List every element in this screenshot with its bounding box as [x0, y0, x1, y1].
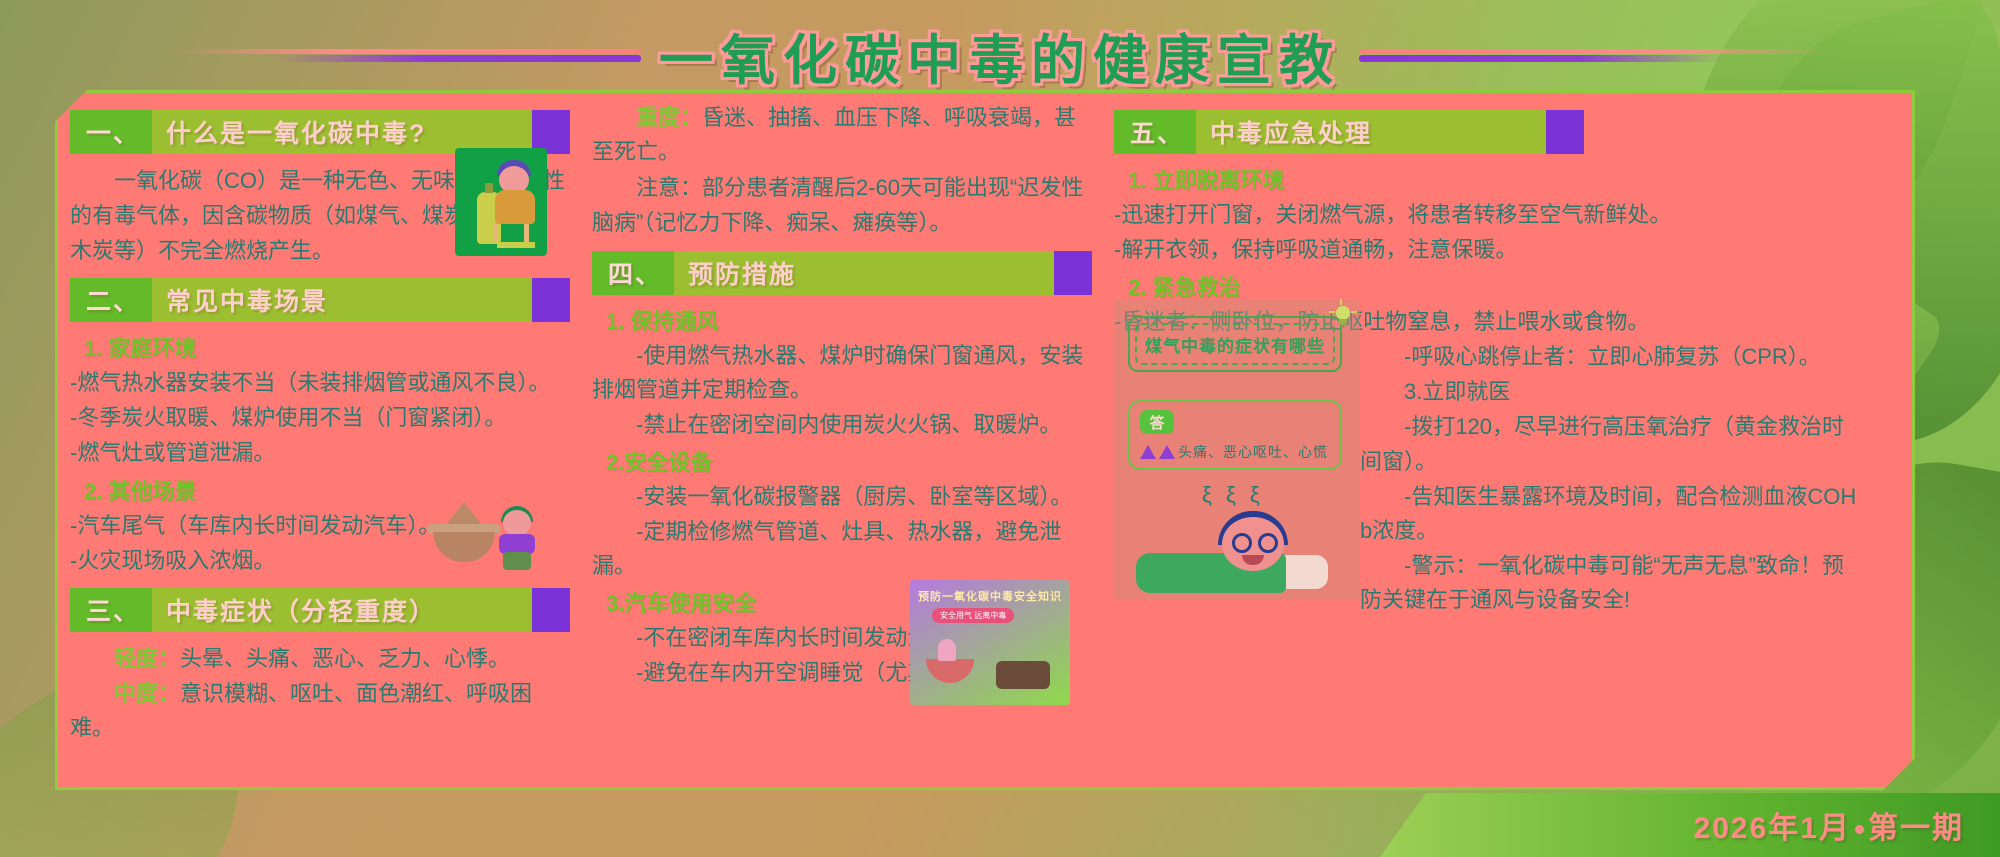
section-title-5: 中毒应急处理 — [1196, 110, 1546, 154]
section3-severe-label: 重度： — [636, 105, 702, 130]
section5-sub3-item: -警示：一氧化碳中毒可能“无声无息”致命！预防关键在于通风与设备安全! — [1360, 549, 1860, 617]
section4-sub1-item: -禁止在密闭空间内使用炭火火锅、取暖炉。 — [592, 408, 1092, 442]
section2-sub1-heading: 1. 家庭环境 — [84, 332, 570, 365]
section-header-2: 二、 常见中毒场景 — [70, 278, 570, 322]
qa-card: 煤气中毒的症状有哪些 答 头痛、恶心呕吐、心慌 ξ ξ ξ — [1114, 300, 1360, 600]
section-cap-3 — [532, 588, 570, 632]
section-header-4: 四、 预防措施 — [592, 251, 1092, 295]
bbq-safety-poster-illustration-icon: 预防一氧化碳中毒安全知识 安全用气 远离中毒 — [910, 580, 1070, 705]
section2-sub1-item: -冬季炭火取暖、煤炉使用不当（门窗紧闭）。 — [70, 401, 570, 435]
section5-sub1-item: -解开衣领，保持呼吸道通畅，注意保暖。 — [1114, 233, 1874, 267]
section5-sub1-item: -迅速打开门窗，关闭燃气源，将患者转移至空气新鲜处。 — [1114, 198, 1874, 232]
column-right: 五、 中毒应急处理 1. 立即脱离环境 -迅速打开门窗，关闭燃气源，将患者转移至… — [1114, 100, 1874, 790]
section3-mild-text: 头晕、头痛、恶心、乏力、心悸。 — [180, 646, 510, 671]
section4-sub2-item: -定期检修燃气管道、灶具、热水器，避免泄漏。 — [592, 515, 1092, 583]
section-title-2: 常见中毒场景 — [152, 278, 532, 322]
bbq-poster-title: 预防一氧化碳中毒安全知识 — [910, 588, 1070, 604]
qa-answer-box: 答 头痛、恶心呕吐、心慌 — [1128, 400, 1342, 470]
footer-issue: 第一期 — [1868, 812, 1964, 845]
section2-sub1-item: -燃气热水器安装不当（未装排烟管或通风不良）。 — [70, 366, 570, 400]
qa-question-box: 煤气中毒的症状有哪些 — [1128, 316, 1342, 372]
section5-sub1-heading: 1. 立即脱离环境 — [1128, 164, 1874, 197]
section-cap-2 — [532, 278, 570, 322]
footer-issue-text: 2026年1月第一期 — [1694, 803, 1964, 847]
sleeping-person-illustration-icon — [1136, 505, 1336, 593]
poster-root: 一氧化碳中毒的健康宣教 一、 什么是一氧化碳中毒? 一氧化碳（CO）是一种无色、… — [0, 0, 2000, 857]
charcoal-hotpot-illustration-icon — [425, 488, 543, 578]
footer-date: 2026年1月 — [1694, 812, 1851, 845]
section4-sub2-heading: 2.安全设备 — [606, 446, 1092, 479]
section-number-5: 五、 — [1114, 110, 1196, 154]
footer-banner: 2026年1月第一期 — [1380, 793, 2000, 857]
section3-moderate-label: 中度： — [114, 681, 180, 706]
section3-severe-line: 重度：昏迷、抽搐、血压下降、呼吸衰竭，甚至死亡。 — [592, 101, 1092, 169]
section5-sub2-item: -呼吸心跳停止者：立即心肺复苏（CPR）。 — [1360, 340, 1860, 374]
section-header-5: 五、 中毒应急处理 — [1114, 110, 1584, 154]
page-title: 一氧化碳中毒的健康宣教 — [641, 16, 1359, 95]
section3-mild-line: 轻度：头晕、头痛、恶心、乏力、心悸。 — [70, 642, 570, 676]
section4-sub1-item: -使用燃气热水器、煤炉时确保门窗通风，安装排烟管道并定期检查。 — [592, 339, 1092, 407]
section-header-3: 三、 中毒症状（分轻重度） — [70, 588, 570, 632]
section-number-2: 二、 — [70, 278, 152, 322]
title-rule-left — [171, 49, 641, 61]
section5-sub3-item: -告知医生暴露环境及时间，配合检测血液COHb浓度。 — [1360, 480, 1860, 548]
section-number-3: 三、 — [70, 588, 152, 632]
qa-answer-badge: 答 — [1140, 410, 1174, 434]
section3-note: 注意：部分患者清醒后2-60天可能出现“迟发性脑病”（记忆力下降、痴呆、瘫痪等）… — [592, 171, 1092, 241]
column-middle: 重度：昏迷、抽搐、血压下降、呼吸衰竭，甚至死亡。 注意：部分患者清醒后2-60天… — [592, 100, 1092, 790]
qa-answer-text-row: 头痛、恶心呕吐、心慌 — [1140, 442, 1328, 462]
title-rule-right — [1359, 49, 1829, 61]
lightbulb-icon — [1332, 302, 1354, 328]
column-left: 一、 什么是一氧化碳中毒? 一氧化碳（CO）是一种无色、无味、无刺激性的有毒气体… — [70, 100, 570, 790]
section3-moderate-line: 中度：意识模糊、呕吐、面色潮红、呼吸困难。 — [70, 677, 570, 745]
section-cap-5 — [1546, 110, 1584, 154]
section-title-4: 预防措施 — [674, 251, 1054, 295]
warning-triangle-icon — [1140, 445, 1156, 459]
qa-answer-text: 头痛、恶心呕吐、心慌 — [1178, 444, 1328, 460]
section-cap-4 — [1054, 251, 1092, 295]
section-number-4: 四、 — [592, 251, 674, 295]
oxygen-therapy-illustration-icon — [455, 148, 547, 256]
section2-sub1-item: -燃气灶或管道泄漏。 — [70, 436, 570, 470]
section-title-3: 中毒症状（分轻重度） — [152, 588, 532, 632]
section5-right-block: -呼吸心跳停止者：立即心肺复苏（CPR）。 3.立即就医 -拨打120，尽早进行… — [1360, 340, 1860, 617]
footer-dot-icon — [1855, 825, 1864, 834]
section4-sub2-item: -安装一氧化碳报警器（厨房、卧室等区域）。 — [592, 480, 1092, 514]
section4-sub1-heading: 1. 保持通风 — [606, 305, 1092, 338]
warning-triangle-icon — [1159, 445, 1175, 459]
bbq-poster-subtitle: 安全用气 远离中毒 — [932, 608, 1014, 623]
qa-question-text: 煤气中毒的症状有哪些 — [1145, 332, 1325, 357]
section-number-1: 一、 — [70, 110, 152, 154]
section3-mild-label: 轻度： — [114, 646, 180, 671]
section5-sub3-heading: 3.立即就医 — [1360, 375, 1860, 409]
poster-title-bar: 一氧化碳中毒的健康宣教 — [0, 12, 2000, 98]
content-columns: 一、 什么是一氧化碳中毒? 一氧化碳（CO）是一种无色、无味、无刺激性的有毒气体… — [70, 100, 1910, 790]
section5-sub3-item: -拨打120，尽早进行高压氧治疗（黄金救治时间窗）。 — [1360, 410, 1860, 478]
